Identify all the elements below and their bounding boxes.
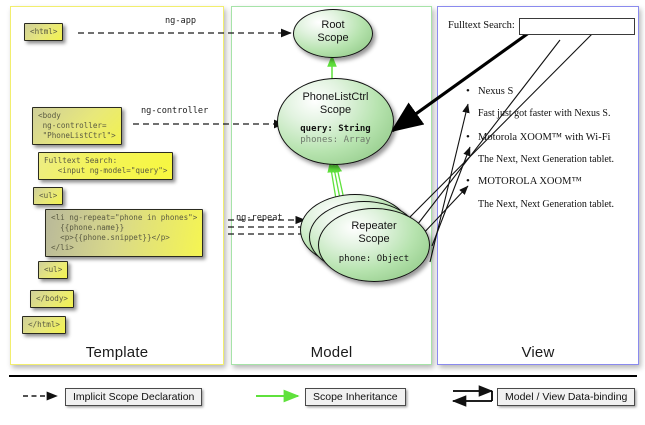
scope-repeater-front: Repeater Scope phone: Object (318, 208, 430, 282)
fulltext-search-input[interactable] (519, 18, 635, 35)
code-body-tag: <body ng-controller= "PhoneListCtrl"> (32, 107, 122, 145)
code-html-close-tag: </html> (22, 316, 66, 334)
scope-repeater-line2: Scope (319, 233, 429, 246)
phone-snippet-0: Fast just got faster with Nexus S. (478, 108, 611, 119)
phone-name-1: Motorola XOOM™ with Wi-Fi (478, 132, 610, 143)
scope-phonelistctrl-prop-phones: phones: Array (278, 135, 393, 146)
code-body-close-tag: </body> (30, 290, 74, 308)
scope-phonelistctrl-prop-query: query: String (278, 124, 393, 135)
phone-bullet-1: • (466, 131, 470, 143)
scope-root-line1: Root (294, 10, 372, 32)
scope-phonelistctrl: PhoneListCtrl Scope query: String phones… (277, 78, 394, 165)
code-search-input-snippet: Fulltext Search: <input ng-model="query"… (38, 152, 173, 180)
code-ul-close-tag: <ul> (38, 261, 68, 279)
panel-view-label: View (438, 344, 638, 361)
scope-repeater-line1: Repeater (319, 209, 429, 233)
label-ng-repeat: ng-repeat (236, 213, 283, 223)
scope-phonelistctrl-line2: Scope (278, 104, 393, 117)
scope-phonelistctrl-line1: PhoneListCtrl (278, 79, 393, 104)
phone-name-2: MOTOROLA XOOM™ (478, 176, 582, 187)
phone-snippet-2: The Next, Next Generation tablet. (478, 199, 614, 210)
panel-model-label: Model (232, 344, 431, 361)
legend-label-implicit-scope-declaration: Implicit Scope Declaration (65, 388, 202, 406)
diagram-canvas: Template Model View (0, 0, 645, 425)
panel-template-label: Template (11, 344, 223, 361)
scope-root: Root Scope (293, 9, 373, 58)
phone-snippet-1: The Next, Next Generation tablet. (478, 154, 614, 165)
phone-bullet-0: • (466, 85, 470, 97)
scope-repeater-prop-phone: phone: Object (319, 254, 429, 265)
legend-label-scope-inheritance: Scope Inheritance (305, 388, 406, 406)
panel-model: Model (231, 6, 432, 365)
fulltext-search-label: Fulltext Search: (448, 20, 515, 31)
label-ng-app: ng-app (165, 16, 196, 26)
label-ng-controller: ng-controller (141, 106, 208, 116)
code-ul-open-tag: <ul> (33, 187, 63, 205)
code-li-repeat-snippet: <li ng-repeat="phone in phones"> {{phone… (45, 209, 203, 257)
phone-bullet-2: • (466, 175, 470, 187)
legend-label-model-view-data-binding: Model / View Data-binding (497, 388, 635, 406)
code-html-open-tag: <html> (24, 23, 63, 41)
panel-template: Template (10, 6, 224, 365)
legend-glyph-model-view-data-binding (453, 391, 492, 401)
phone-name-0: Nexus S (478, 86, 513, 97)
scope-root-line2: Scope (294, 32, 372, 45)
legend-divider (9, 375, 637, 377)
